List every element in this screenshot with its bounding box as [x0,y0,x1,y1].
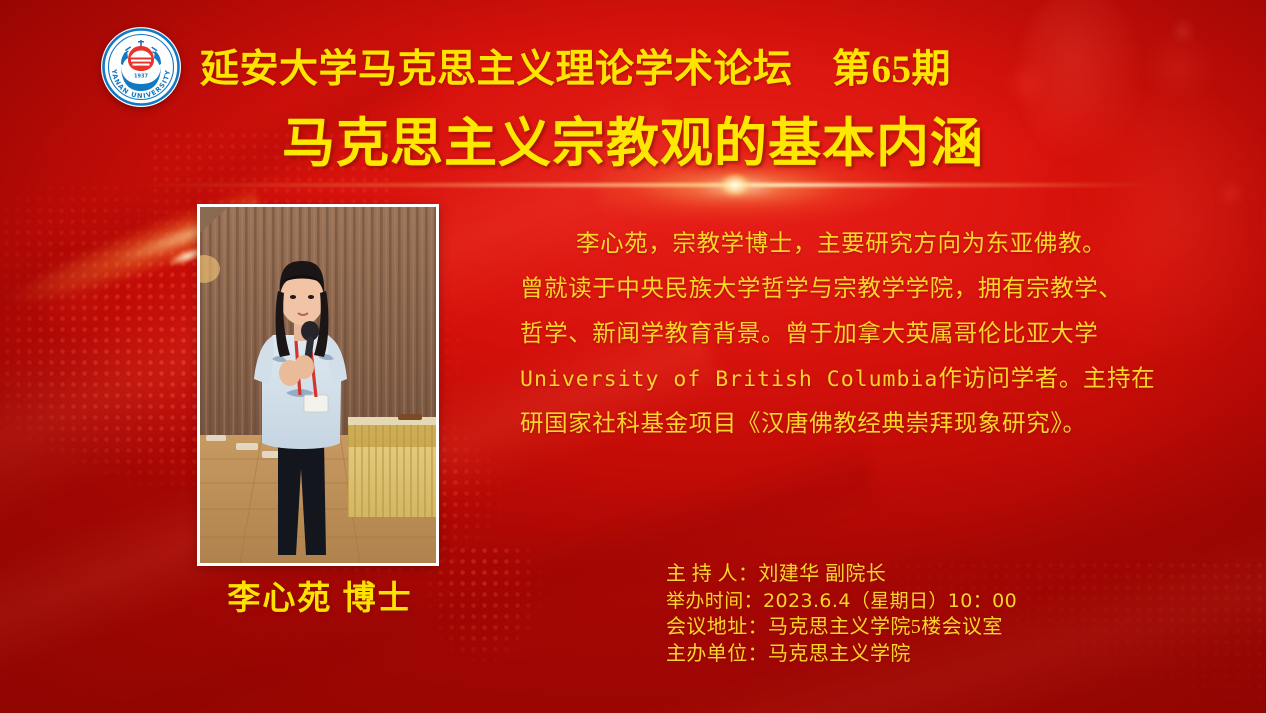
bio-line-1: 李心苑，宗教学博士，主要研究方向为东亚佛教。 [520,222,1210,267]
bio-line-2: 曾就读于中央民族大学哲学与宗教学学院，拥有宗教学、 [520,267,1210,312]
speaker-photo-frame [197,204,439,566]
svg-text:1937: 1937 [134,74,148,80]
bio-line-4-latin: University of British Columbia [520,367,938,392]
bio-line-3: 哲学、新闻学教育背景。曾于加拿大英属哥伦比亚大学 [520,312,1210,357]
bio-line-4-tail: 作访问学者。主持在 [938,366,1155,392]
speaker-bio: 李心苑，宗教学博士，主要研究方向为东亚佛教。 曾就读于中央民族大学哲学与宗教学学… [520,222,1210,447]
event-info-block: 主 持 人：刘建华 副院长 举办时间：2023.6.4（星期日）10：00 会议… [666,561,1017,667]
bio-line-4: University of British Columbia作访问学者。主持在 [520,357,1210,402]
yanan-university-logo-icon: 1937 YANAN UNIVERSITY [101,27,181,107]
info-time: 举办时间：2023.6.4（星期日）10：00 [666,588,1017,615]
info-host: 主 持 人：刘建华 副院长 [666,561,1017,588]
forum-series-title: 延安大学马克思主义理论学术论坛 第65期 [200,44,1030,96]
speaker-name-label: 李心苑 博士 [150,578,490,620]
info-venue: 会议地址：马克思主义学院5楼会议室 [666,614,1017,641]
bio-line-5: 研国家社科基金项目《汉唐佛教经典崇拜现象研究》。 [520,402,1210,447]
speaker-photo [200,207,436,563]
info-organizer: 主办单位：马克思主义学院 [666,641,1017,668]
page-title: 马克思主义宗教观的基本内涵 [0,113,1266,175]
poster-canvas: 1937 YANAN UNIVERSITY 延安大学马克思主义理论学术论坛 第6… [0,0,1266,713]
